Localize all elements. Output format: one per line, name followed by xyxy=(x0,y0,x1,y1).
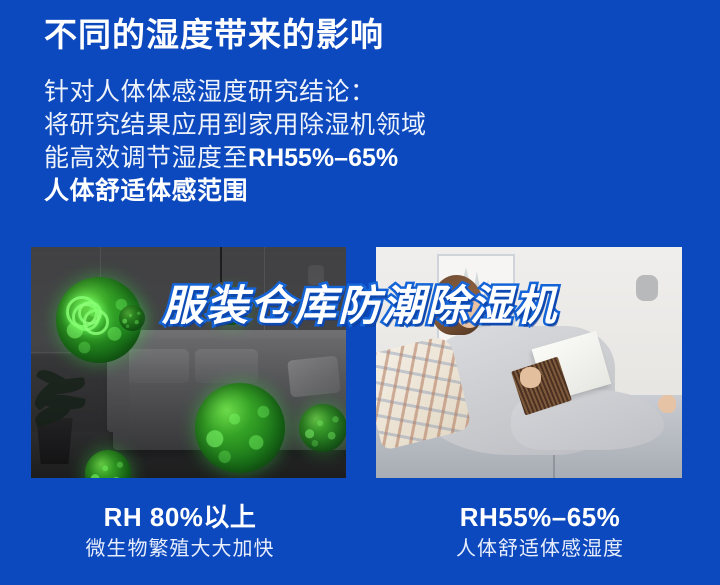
intro-line-3: 能高效调节湿度至RH55%–65% xyxy=(44,142,684,175)
intro-line-4: 人体舒适体感范围 xyxy=(44,175,684,208)
microbe-blob xyxy=(195,383,285,473)
microbe-blob xyxy=(85,450,131,478)
overlay-product-title: 服装仓库防潮除湿机 xyxy=(0,272,720,333)
intro-line-1: 针对人体体感湿度研究结论： xyxy=(44,76,684,109)
microbe-blob xyxy=(299,404,346,452)
intro-line-2: 将研究结果应用到家用除湿机领域 xyxy=(44,109,684,142)
poster-root: 不同的湿度带来的影响 针对人体体感湿度研究结论： 将研究结果应用到家用除湿机领域… xyxy=(0,0,720,585)
caption-left: RH 80%以上 微生物繁殖大大加快 xyxy=(0,500,360,564)
caption-row: RH 80%以上 微生物繁殖大大加快 RH55%–65% 人体舒适体感湿度 xyxy=(0,500,720,564)
intro-line-3-text: 能高效调节湿度至 xyxy=(44,144,248,172)
caption-right-title: RH55%–65% xyxy=(360,500,720,534)
caption-right-sub: 人体舒适体感湿度 xyxy=(360,534,720,564)
page-title: 不同的湿度带来的影响 xyxy=(44,14,384,55)
intro-copy: 针对人体体感湿度研究结论： 将研究结果应用到家用除湿机领域 能高效调节湿度至RH… xyxy=(44,76,684,208)
caption-left-title: RH 80%以上 xyxy=(0,500,360,534)
caption-left-sub: 微生物繁殖大大加快 xyxy=(0,534,360,564)
person-hand xyxy=(520,367,541,388)
caption-right: RH55%–65% 人体舒适体感湿度 xyxy=(360,500,720,564)
person-foot xyxy=(658,395,676,413)
humidity-range-highlight: RH55%–65% xyxy=(248,144,398,172)
